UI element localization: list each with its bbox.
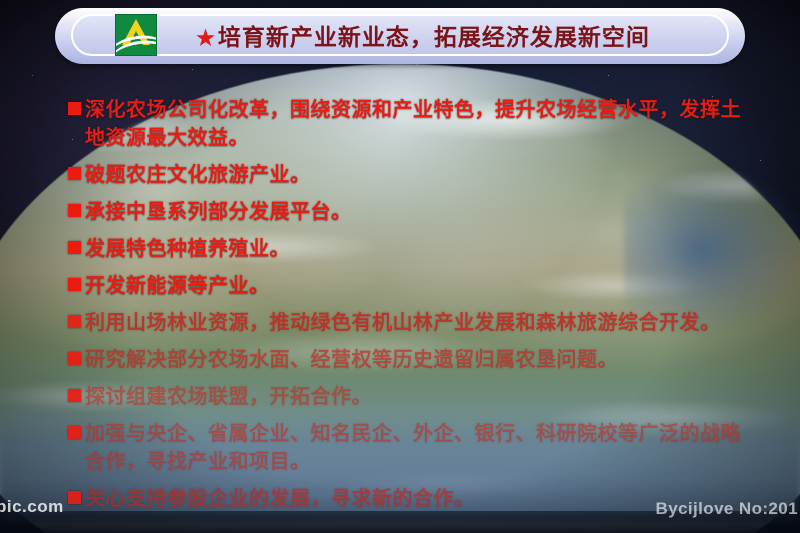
bullet-marker-icon xyxy=(68,278,81,291)
list-item: 破题农庄文化旅游产业。 xyxy=(68,161,748,189)
bullet-marker-icon xyxy=(68,241,81,254)
bullet-marker-icon xyxy=(68,315,81,328)
bullet-list: 深化农场公司化改革，围绕资源和产业特色，提升农场经营水平，发挥土地资源最大效益。… xyxy=(68,96,748,522)
presentation-slide: ★培育新产业新业态，拓展经济发展新空间 深化农场公司化改革，围绕资源和产业特色，… xyxy=(0,0,800,533)
list-item: 开发新能源等产业。 xyxy=(68,272,748,300)
page-title: ★培育新产业新业态，拓展经济发展新空间 xyxy=(139,18,727,52)
list-item-text: 开发新能源等产业。 xyxy=(85,272,270,300)
list-item-text: 探讨组建农场联盟，开拓合作。 xyxy=(85,383,372,411)
list-item-text: 关心支持参股企业的发展，寻求新的合作。 xyxy=(85,485,475,513)
list-item: 承接中垦系列部分发展平台。 xyxy=(68,198,748,226)
list-item-text: 深化农场公司化改革，围绕资源和产业特色，提升农场经营水平，发挥土地资源最大效益。 xyxy=(85,96,748,152)
title-banner-inner: ★培育新产业新业态，拓展经济发展新空间 xyxy=(71,14,729,56)
title-banner: ★培育新产业新业态，拓展经济发展新空间 xyxy=(55,8,745,64)
bullet-marker-icon xyxy=(68,204,81,217)
list-item-text: 承接中垦系列部分发展平台。 xyxy=(85,198,352,226)
list-item: 深化农场公司化改革，围绕资源和产业特色，提升农场经营水平，发挥土地资源最大效益。 xyxy=(68,96,748,152)
list-item: 发展特色种植养殖业。 xyxy=(68,235,748,263)
bullet-marker-icon xyxy=(68,102,81,115)
list-item-text: 研究解决部分农场水面、经营权等历史遗留归属农垦问题。 xyxy=(85,346,618,374)
star-icon: ★ xyxy=(196,26,216,50)
list-item: 加强与央企、省属企业、知名民企、外企、银行、科研院校等广泛的战略合作，寻找产业和… xyxy=(68,420,748,476)
list-item-text: 破题农庄文化旅游产业。 xyxy=(85,161,311,189)
watermark-left: pic.com xyxy=(0,497,64,517)
list-item: 关心支持参股企业的发展，寻求新的合作。 xyxy=(68,485,748,513)
bullet-marker-icon xyxy=(68,389,81,402)
list-item: 探讨组建农场联盟，开拓合作。 xyxy=(68,383,748,411)
agriculture-group-logo-icon xyxy=(115,14,157,56)
list-item-text: 发展特色种植养殖业。 xyxy=(85,235,290,263)
bullet-marker-icon xyxy=(68,426,81,439)
bullet-marker-icon xyxy=(68,167,81,180)
list-item: 研究解决部分农场水面、经营权等历史遗留归属农垦问题。 xyxy=(68,346,748,374)
watermark-right: Bycijlove No:201 xyxy=(656,499,798,519)
list-item: 利用山场林业资源，推动绿色有机山林产业发展和森林旅游综合开发。 xyxy=(68,309,748,337)
bullet-marker-icon xyxy=(68,491,81,504)
list-item-text: 利用山场林业资源，推动绿色有机山林产业发展和森林旅游综合开发。 xyxy=(85,309,721,337)
list-item-text: 加强与央企、省属企业、知名民企、外企、银行、科研院校等广泛的战略合作，寻找产业和… xyxy=(85,420,748,476)
bullet-marker-icon xyxy=(68,352,81,365)
page-title-text: 培育新产业新业态，拓展经济发展新空间 xyxy=(218,25,650,50)
